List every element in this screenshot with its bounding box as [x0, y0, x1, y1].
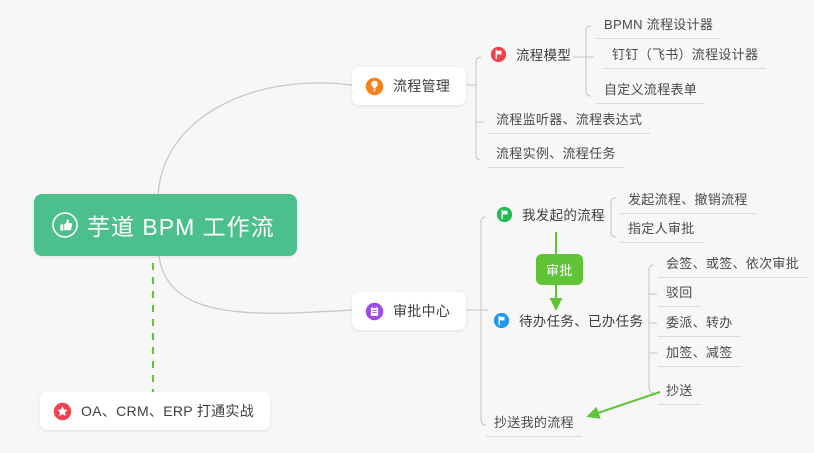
leaf-cc-to-me-process[interactable]: 抄送我的流程 [486, 409, 582, 437]
connector-model-to-customform [586, 91, 591, 96]
connector-pm-to-instance [476, 155, 481, 160]
connector-pm-bracket-top-cap [476, 57, 481, 62]
flag-green-icon [496, 206, 513, 223]
connector-root-to-approval-center [158, 246, 352, 313]
connector-model-to-bpmn [586, 26, 591, 31]
leaf-delegate-transfer[interactable]: 委派、转办 [658, 309, 741, 337]
branch-label-process-management: 流程管理 [393, 76, 450, 96]
branch-node-approval-center[interactable]: 审批中心 [352, 292, 466, 330]
group-head-todo-done-tasks[interactable]: 待办任务、已办任务 [493, 310, 643, 335]
star-icon [53, 402, 72, 421]
leaf-process-instance-task[interactable]: 流程实例、流程任务 [488, 140, 624, 168]
leaf-cc[interactable]: 抄送 [658, 377, 701, 405]
arrow-cc-to-my-cc-process [592, 392, 660, 415]
leaf-assignee-approval[interactable]: 指定人审批 [620, 215, 703, 243]
group-label-my-initiated: 我发起的流程 [522, 204, 605, 224]
flag-blue-icon [493, 312, 510, 329]
bottom-note-label: OA、CRM、ERP 打通实战 [81, 401, 254, 421]
leaf-start-cancel-process[interactable]: 发起流程、撤销流程 [620, 186, 756, 214]
branch-label-approval-center: 审批中心 [393, 301, 450, 321]
clipboard-icon [365, 302, 384, 321]
root-label: 芋道 BPM 工作流 [87, 208, 275, 242]
branch-node-process-management[interactable]: 流程管理 [352, 67, 466, 105]
mindmap-canvas: 芋道 BPM 工作流 OA、CRM、ERP 打通实战 流程管理 [0, 0, 814, 453]
connector-root-to-process-management [158, 83, 352, 198]
leaf-custom-process-form[interactable]: 自定义流程表单 [596, 76, 705, 104]
connector-todo-to-cc [649, 388, 654, 393]
root-node[interactable]: 芋道 BPM 工作流 [34, 194, 297, 256]
connector-initiated-to-assignee [611, 232, 616, 237]
leaf-dingtalk-feishu-designer[interactable]: 钉钉（飞书）流程设计器 [604, 41, 766, 69]
leaf-process-listener-expression[interactable]: 流程监听器、流程表达式 [488, 106, 650, 134]
lightbulb-icon [365, 77, 384, 96]
flag-red-icon [490, 46, 507, 63]
thumbs-up-icon [52, 212, 78, 238]
group-head-process-model[interactable]: 流程模型 [490, 44, 571, 69]
connector-ac-to-initiated [481, 217, 486, 222]
approval-callout-badge: 审批 [536, 254, 583, 285]
connector-todo-to-countersign [649, 265, 654, 270]
leaf-countersign-orsign-sequential[interactable]: 会签、或签、依次审批 [658, 250, 807, 278]
leaf-add-remove-sign[interactable]: 加签、减签 [658, 339, 741, 367]
bottom-note-card[interactable]: OA、CRM、ERP 打通实战 [40, 392, 270, 430]
group-head-my-initiated[interactable]: 我发起的流程 [496, 204, 605, 229]
leaf-reject[interactable]: 驳回 [658, 279, 701, 307]
group-label-todo-done-tasks: 待办任务、已办任务 [519, 310, 643, 330]
group-label-process-model: 流程模型 [516, 44, 571, 64]
leaf-bpmn-designer[interactable]: BPMN 流程设计器 [596, 11, 721, 39]
connector-initiated-to-start [611, 198, 616, 203]
